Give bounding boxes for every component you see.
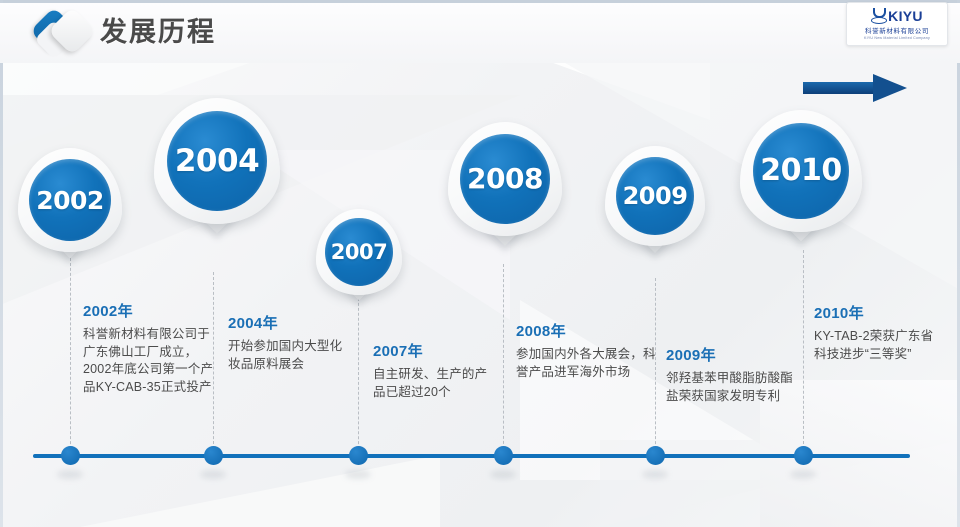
milestone-pin-2009[interactable]: 2009 — [605, 146, 705, 246]
milestone-body: 自主研发、生产的产品已超过20个 — [373, 366, 498, 401]
timeline-dot-shadow — [345, 470, 371, 479]
pin-year-label: 2008 — [467, 165, 543, 193]
frame-border-left — [0, 0, 3, 527]
connector-line — [358, 298, 359, 454]
pin-year-label: 2007 — [331, 242, 387, 263]
timeline-dot-2007[interactable] — [349, 446, 368, 465]
milestone-text-2010: 2010年 KY-TAB-2荣获广东省科技进步“三等奖” — [814, 302, 942, 363]
logo-wordmark: KIYU — [888, 9, 923, 23]
milestone-heading: 2008年 — [516, 320, 660, 341]
kiyu-cup-icon — [871, 8, 885, 23]
timeline-dot-2010[interactable] — [794, 446, 813, 465]
pin-year-label: 2002 — [36, 188, 104, 213]
timeline-dot-2002[interactable] — [61, 446, 80, 465]
timeline-dot-shadow — [57, 470, 83, 479]
progress-arrow-icon — [803, 74, 907, 102]
logo-company-en: KIYU New Material Limited Company — [864, 36, 930, 40]
milestone-text-2009: 2009年 邻羟基苯甲酸脂肪酸酯盐荣获国家发明专利 — [666, 344, 796, 405]
connector-line — [503, 264, 504, 454]
milestone-body: 科誉新材料有限公司于广东佛山工厂成立，2002年底公司第一个产品KY-CAB-3… — [83, 326, 221, 396]
timeline-axis — [33, 454, 910, 458]
company-logo: KIYU 科誉新材料有限公司 KIYU New Material Limited… — [846, 2, 948, 46]
pin-year-label: 2009 — [623, 184, 688, 208]
milestone-pin-2004[interactable]: 2004 — [154, 98, 280, 224]
milestone-body: 参加国内外各大展会，科誉产品进军海外市场 — [516, 346, 660, 381]
pin-year-label: 2010 — [760, 156, 842, 186]
timeline-dot-shadow — [642, 470, 668, 479]
milestone-heading: 2004年 — [228, 312, 353, 333]
milestone-text-2008: 2008年 参加国内外各大展会，科誉产品进军海外市场 — [516, 320, 660, 381]
connector-line — [803, 250, 804, 454]
pin-year-label: 2004 — [175, 146, 259, 177]
timeline-dot-shadow — [790, 470, 816, 479]
milestone-heading: 2007年 — [373, 340, 498, 361]
timeline-dot-2004[interactable] — [204, 446, 223, 465]
milestone-text-2004: 2004年 开始参加国内大型化妆品原料展会 — [228, 312, 353, 373]
milestone-heading: 2002年 — [83, 300, 221, 321]
milestone-body: 邻羟基苯甲酸脂肪酸酯盐荣获国家发明专利 — [666, 370, 796, 405]
milestone-text-2007: 2007年 自主研发、生产的产品已超过20个 — [373, 340, 498, 401]
page-title: 发展历程 — [100, 10, 216, 49]
milestone-body: KY-TAB-2荣获广东省科技进步“三等奖” — [814, 328, 942, 363]
logo-company-cn: 科誉新材料有限公司 — [865, 25, 929, 35]
timeline-dot-2008[interactable] — [494, 446, 513, 465]
milestone-body: 开始参加国内大型化妆品原料展会 — [228, 338, 353, 373]
milestone-heading: 2009年 — [666, 344, 796, 365]
timeline-dot-shadow — [200, 470, 226, 479]
milestone-pin-2007[interactable]: 2007 — [316, 209, 402, 295]
slide-canvas: 发展历程 KIYU 科誉新材料有限公司 KIYU New Material Li… — [0, 0, 960, 527]
background-facet — [80, 455, 440, 527]
milestone-pin-2008[interactable]: 2008 — [448, 122, 562, 236]
milestone-text-2002: 2002年 科誉新材料有限公司于广东佛山工厂成立，2002年底公司第一个产品KY… — [83, 300, 221, 396]
chevron-diamond-icon — [33, 6, 99, 58]
timeline-dot-shadow — [490, 470, 516, 479]
connector-line — [70, 258, 71, 454]
milestone-pin-2002[interactable]: 2002 — [18, 148, 122, 252]
milestone-pin-2010[interactable]: 2010 — [740, 110, 862, 232]
timeline-dot-2009[interactable] — [646, 446, 665, 465]
milestone-heading: 2010年 — [814, 302, 942, 323]
